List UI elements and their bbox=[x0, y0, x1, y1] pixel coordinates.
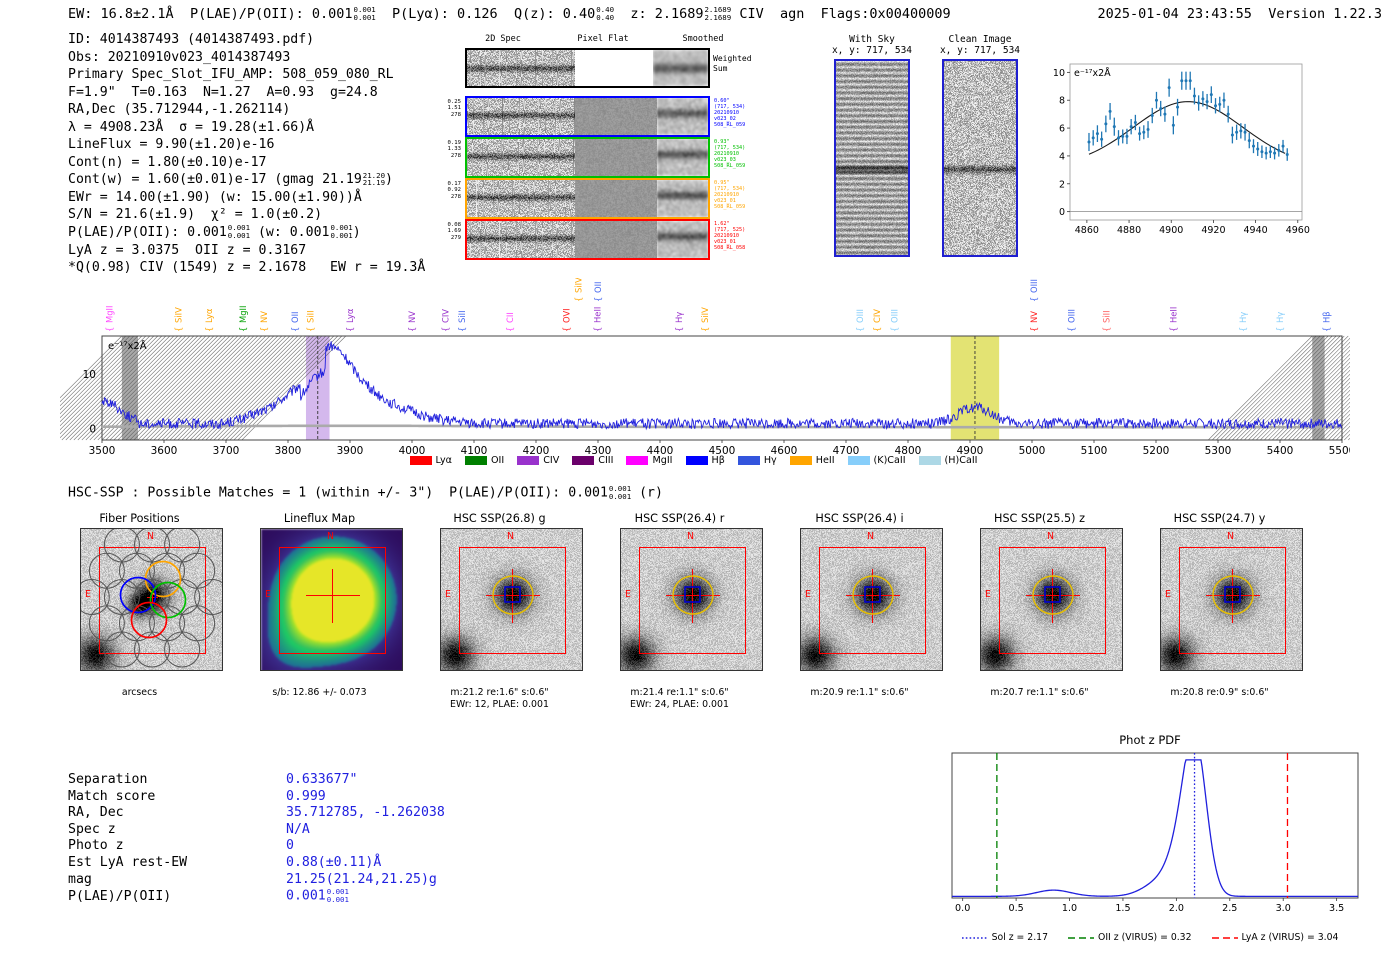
spectrum-legend-item-Lyα: Lyα bbox=[410, 455, 452, 466]
legend-label: Hβ bbox=[712, 455, 725, 466]
cutout-image-2[interactable]: NE-4-4-2-2002244 bbox=[440, 528, 583, 671]
sky-cutout-title-1: Clean Imagex, y: 717, 534 bbox=[930, 34, 1030, 56]
header-flags: Flags:0x00400009 bbox=[821, 6, 951, 22]
source-ellipse-overlay bbox=[801, 529, 943, 671]
source-ellipse-overlay bbox=[621, 529, 763, 671]
north-label: N bbox=[1227, 531, 1234, 542]
svg-text:0: 0 bbox=[89, 424, 96, 436]
legend-label: (H)CaII bbox=[945, 455, 978, 466]
sky-cutout-image-0 bbox=[834, 59, 910, 257]
info-line-2: Primary Spec_Slot_IFU_AMP: 508_059_080_R… bbox=[68, 66, 425, 84]
cutout-caption-4: m:20.9 re:1.1" s:0.6" bbox=[772, 687, 947, 699]
info-line-4: RA,Dec (35.712944,-1.262114) bbox=[68, 101, 425, 119]
north-label: N bbox=[1047, 531, 1054, 542]
two-d-spectrum-panel: 2D SpecPixel FlatSmoothedWeighted Sum0.2… bbox=[455, 34, 765, 266]
svg-text:{: { bbox=[1238, 327, 1248, 332]
sky-cutout-clean: Clean Imagex, y: 717, 534 bbox=[930, 34, 1030, 257]
svg-text:{: { bbox=[573, 297, 583, 302]
hsc-headline-text: HSC-SSP : Possible Matches = 1 (within +… bbox=[68, 486, 608, 501]
property-value: 0.88(±0.11)Å bbox=[286, 855, 381, 870]
cutout-title-2: HSC SSP(26.8) g bbox=[412, 512, 587, 525]
weighted-sum-label: Weighted Sum bbox=[713, 54, 752, 73]
svg-text:NV: NV bbox=[259, 311, 269, 323]
legend-swatch-icon bbox=[738, 456, 760, 465]
svg-text:CIV: CIV bbox=[872, 309, 882, 323]
source-ellipse-overlay bbox=[441, 529, 583, 671]
cutout-caption-2: m:21.2 re:1.6" s:0.6"EWr: 12, PLAE: 0.00… bbox=[412, 687, 587, 711]
cutout-image-0[interactable]: NE-4-4-2-2002244 bbox=[80, 528, 223, 671]
sky-cutout-title-0: With Skyx, y: 717, 534 bbox=[822, 34, 922, 56]
cutout-caption-0: arcsecs bbox=[52, 687, 227, 699]
hsc-headline-frac: 0.0010.001 bbox=[609, 485, 631, 500]
spec2d-row-right-labels-1: 0.93"(717, 534)20210910v023_03508_RL_059 bbox=[714, 139, 745, 169]
svg-text:Hγ: Hγ bbox=[1238, 312, 1248, 323]
header-plya: P(Lyα): 0.126 bbox=[392, 6, 498, 22]
property-row-0: Separation0.633677" bbox=[68, 772, 445, 789]
svg-text:4920: 4920 bbox=[1201, 225, 1225, 236]
phot-z-legend-swatch-icon bbox=[962, 934, 988, 942]
property-value: 21.25(21.24,21.25)g bbox=[286, 872, 437, 887]
east-label: E bbox=[445, 589, 451, 600]
svg-text:Hγ: Hγ bbox=[1275, 312, 1285, 323]
full-spectrum-chart: MgII{SiIV{Lyα{MgII{NV{OII{SiII{Lyα{NV{CI… bbox=[60, 278, 1350, 468]
cutout-panel-6: HSC SSP(24.7) yNE-4-4-2-2002244m:20.8 re… bbox=[1132, 512, 1307, 699]
east-label: E bbox=[805, 589, 811, 600]
svg-text:SiII: SiII bbox=[306, 310, 316, 323]
svg-text:e⁻¹⁷x2Å: e⁻¹⁷x2Å bbox=[1074, 67, 1111, 79]
svg-text:{: { bbox=[855, 327, 865, 332]
hsc-headline-suffix: (r) bbox=[631, 486, 663, 501]
header-qz-frac: 0.400.40 bbox=[596, 6, 614, 21]
cutout-image-1[interactable]: NE-4-4-2-2002244 bbox=[260, 528, 403, 671]
phot-z-pdf-chart: Phot z PDF0.00.51.01.52.02.53.03.5Sol z … bbox=[930, 733, 1370, 948]
svg-text:4860: 4860 bbox=[1075, 225, 1099, 236]
phot-z-legend-label: LyA z (VIRUS) = 3.04 bbox=[1242, 932, 1339, 943]
spec2d-exposure-row-3 bbox=[465, 219, 710, 260]
svg-text:{: { bbox=[345, 327, 355, 332]
phot-z-legend-item-2: LyA z (VIRUS) = 3.04 bbox=[1212, 932, 1339, 943]
svg-text:CII: CII bbox=[505, 312, 515, 323]
svg-text:NV: NV bbox=[1029, 311, 1039, 323]
svg-text:{: { bbox=[505, 327, 515, 332]
cutout-caption-6: m:20.8 re:0.9" s:0.6" bbox=[1132, 687, 1307, 699]
property-row-5: Est LyA rest-EW0.88(±0.11)Å bbox=[68, 855, 445, 872]
svg-text:SiII: SiII bbox=[457, 310, 467, 323]
header-ew: EW: 16.8±2.1Å bbox=[68, 6, 174, 22]
property-label: Match score bbox=[68, 789, 286, 806]
cutout-panel-5: HSC SSP(25.5) zNE-4-4-2-2002244m:20.7 re… bbox=[952, 512, 1127, 699]
svg-text:OIII: OIII bbox=[855, 309, 865, 323]
source-ellipse-overlay bbox=[1161, 529, 1303, 671]
phot-z-legend: Sol z = 2.17OII z (VIRUS) = 0.32LyA z (V… bbox=[930, 932, 1370, 943]
phot-z-legend-label: OII z (VIRUS) = 0.32 bbox=[1098, 932, 1192, 943]
property-value: 0.001 bbox=[286, 889, 326, 904]
svg-text:{: { bbox=[593, 297, 603, 302]
svg-text:2.5: 2.5 bbox=[1222, 903, 1237, 914]
svg-text:0: 0 bbox=[1059, 207, 1065, 218]
svg-text:{: { bbox=[700, 327, 710, 332]
svg-text:1.5: 1.5 bbox=[1115, 903, 1130, 914]
svg-text:OII: OII bbox=[290, 311, 300, 323]
property-label: RA, Dec bbox=[68, 805, 286, 822]
spectrum-legend-item-CIII: CIII bbox=[572, 455, 613, 466]
header-classification: agn bbox=[780, 6, 804, 22]
legend-label: HeII bbox=[816, 455, 835, 466]
svg-text:{: { bbox=[872, 327, 882, 332]
property-row-7: P(LAE)/P(OII)0.0010.0010.001 bbox=[68, 888, 445, 905]
svg-text:Lyα: Lyα bbox=[204, 308, 214, 323]
legend-swatch-icon bbox=[517, 456, 539, 465]
property-value: 0.999 bbox=[286, 789, 326, 804]
cutout-panel-4: HSC SSP(26.4) iNE-4-4-2-2002244m:20.9 re… bbox=[772, 512, 947, 699]
source-ellipse-overlay bbox=[981, 529, 1123, 671]
legend-label: OII bbox=[491, 455, 504, 466]
svg-text:10: 10 bbox=[1053, 68, 1065, 79]
info-line-5: λ = 4908.23Å σ = 19.28(±1.66)Å bbox=[68, 119, 425, 137]
cutout-panel-2: HSC SSP(26.8) gNE-4-4-2-2002244m:21.2 re… bbox=[412, 512, 587, 711]
legend-swatch-icon bbox=[626, 456, 648, 465]
property-row-3: Spec zN/A bbox=[68, 822, 445, 839]
header-version: Version 1.22.3 bbox=[1268, 6, 1382, 22]
spec2d-row-left-labels-3: 0.081.69279 bbox=[439, 222, 461, 241]
cutout-title-0: Fiber Positions bbox=[52, 512, 227, 525]
svg-text:{: { bbox=[407, 327, 417, 332]
cutout-caption-1: s/b: 12.86 +/- 0.073 bbox=[232, 687, 407, 699]
svg-text:MgII: MgII bbox=[238, 306, 248, 323]
cutout-panel-0: Fiber PositionsNE-4-4-2-2002244arcsecs bbox=[52, 512, 227, 699]
header-summary-line: EW: 16.8±2.1Å P(LAE)/P(OII): 0.0010.0010… bbox=[68, 6, 951, 22]
svg-text:{: { bbox=[1322, 327, 1332, 332]
legend-swatch-icon bbox=[410, 456, 432, 465]
svg-text:e⁻¹⁷x2Å: e⁻¹⁷x2Å bbox=[108, 339, 147, 352]
svg-text:HeII: HeII bbox=[593, 307, 603, 323]
svg-text:SiIV: SiIV bbox=[573, 278, 583, 293]
svg-text:1.0: 1.0 bbox=[1062, 903, 1077, 914]
svg-text:6: 6 bbox=[1059, 124, 1065, 135]
north-label: N bbox=[327, 531, 334, 542]
cutout-title-3: HSC SSP(26.4) r bbox=[592, 512, 767, 525]
phot-z-legend-item-1: OII z (VIRUS) = 0.32 bbox=[1068, 932, 1192, 943]
legend-label: Hγ bbox=[764, 455, 777, 466]
info-line-cont-w: Cont(w) = 1.60(±0.01)e-17 (gmag 21.1921.… bbox=[68, 171, 425, 189]
legend-label: CIV bbox=[543, 455, 559, 466]
crosshair-vertical bbox=[332, 569, 333, 623]
svg-text:{: { bbox=[457, 327, 467, 332]
svg-text:{: { bbox=[593, 327, 603, 332]
svg-text:4940: 4940 bbox=[1244, 225, 1268, 236]
cutout-title-5: HSC SSP(25.5) z bbox=[952, 512, 1127, 525]
svg-text:10: 10 bbox=[83, 369, 96, 381]
legend-swatch-icon bbox=[465, 456, 487, 465]
svg-text:NV: NV bbox=[407, 311, 417, 323]
cutout-image-5[interactable]: NE-4-4-2-2002244 bbox=[980, 528, 1123, 671]
svg-text:{: { bbox=[1275, 327, 1285, 332]
legend-swatch-icon bbox=[686, 456, 708, 465]
svg-text:SiIV: SiIV bbox=[700, 307, 710, 323]
svg-text:OVI: OVI bbox=[562, 308, 572, 323]
north-label: N bbox=[147, 531, 154, 542]
sky-cutout-image-1 bbox=[942, 59, 1018, 257]
header-timestamp: 2025-01-04 23:43:55 bbox=[1098, 6, 1252, 22]
property-value: 35.712785, -1.262038 bbox=[286, 805, 445, 820]
header-plae: P(LAE)/P(OII): 0.001 bbox=[190, 6, 353, 22]
svg-text:OIII: OIII bbox=[1066, 309, 1076, 323]
property-row-6: mag21.25(21.24,21.25)g bbox=[68, 872, 445, 889]
info-line-6: LineFlux = 9.90(±1.20)e-16 bbox=[68, 136, 425, 154]
property-row-1: Match score0.999 bbox=[68, 789, 445, 806]
header-timestamp-block: 2025-01-04 23:43:55 Version 1.22.3 bbox=[1098, 6, 1383, 22]
svg-text:{: { bbox=[259, 327, 269, 332]
svg-text:OIII: OIII bbox=[890, 309, 900, 323]
sky-cutout-sky: With Skyx, y: 717, 534 bbox=[822, 34, 922, 257]
svg-text:CIV: CIV bbox=[441, 309, 451, 323]
spectrum-legend-item-(H)CaII: (H)CaII bbox=[919, 455, 978, 466]
spec2d-row-right-labels-0: 0.60"(717, 534)20210910v023_02508_RL_059 bbox=[714, 98, 745, 128]
east-label: E bbox=[625, 589, 631, 600]
property-label: Photo z bbox=[68, 838, 286, 855]
svg-text:8: 8 bbox=[1059, 96, 1065, 107]
svg-text:0.0: 0.0 bbox=[955, 903, 970, 914]
legend-swatch-icon bbox=[848, 456, 870, 465]
match-properties-table: Separation0.633677"Match score0.999RA, D… bbox=[68, 772, 445, 905]
svg-text:{: { bbox=[562, 327, 572, 332]
svg-text:2.0: 2.0 bbox=[1169, 903, 1184, 914]
property-row-4: Photo z0 bbox=[68, 838, 445, 855]
property-label: Separation bbox=[68, 772, 286, 789]
east-label: E bbox=[85, 589, 91, 600]
east-label: E bbox=[985, 589, 991, 600]
spectrum-legend-item-CIV: CIV bbox=[517, 455, 559, 466]
spec2d-exposure-row-0 bbox=[465, 96, 710, 137]
spectrum-legend: LyαOIICIVCIIIMgIIHβHγHeII(K)CaII(H)CaII bbox=[0, 455, 1400, 466]
legend-label: (K)CaII bbox=[874, 455, 906, 466]
cutout-panel-1: Lineflux MapNE-4-4-2-2002244s/b: 12.86 +… bbox=[232, 512, 407, 699]
svg-text:{: { bbox=[290, 327, 300, 332]
svg-text:MgII: MgII bbox=[105, 306, 115, 323]
header-z-frac: 2.16892.1689 bbox=[704, 6, 731, 21]
svg-text:3.5: 3.5 bbox=[1329, 903, 1344, 914]
svg-text:0.5: 0.5 bbox=[1008, 903, 1023, 914]
property-label: Est LyA rest-EW bbox=[68, 855, 286, 872]
legend-label: Lyα bbox=[436, 455, 452, 466]
spectrum-legend-item-OII: OII bbox=[465, 455, 504, 466]
info-line-0: ID: 4014387493 (4014387493.pdf) bbox=[68, 31, 425, 49]
info-line-10: LyA z = 3.0375 OII z = 0.3167 bbox=[68, 242, 425, 260]
legend-swatch-icon bbox=[790, 456, 812, 465]
svg-text:{: { bbox=[105, 327, 115, 332]
property-value-frac: 0.0010.001 bbox=[327, 888, 349, 903]
svg-text:{: { bbox=[306, 327, 316, 332]
spec2d-col-title-0: 2D Spec bbox=[463, 34, 543, 44]
cutout-image-6[interactable]: NE-4-4-2-2002244 bbox=[1160, 528, 1303, 671]
weighted-sum-row bbox=[465, 48, 710, 88]
info-line-7: Cont(n) = 1.80(±0.10)e-17 bbox=[68, 154, 425, 172]
spec2d-row-left-labels-1: 0.191.33278 bbox=[439, 140, 461, 159]
legend-label: CIII bbox=[598, 455, 613, 466]
property-value: 0 bbox=[286, 838, 294, 853]
svg-text:3.0: 3.0 bbox=[1276, 903, 1291, 914]
property-label: P(LAE)/P(OII) bbox=[68, 889, 286, 906]
north-label: N bbox=[687, 531, 694, 542]
property-value: 0.633677" bbox=[286, 772, 357, 787]
info-line-plae: P(LAE)/P(OII): 0.0010.0010.001 (w: 0.001… bbox=[68, 224, 425, 242]
cutout-caption-3: m:21.4 re:1.1" s:0.6"EWr: 24, PLAE: 0.00… bbox=[592, 687, 767, 711]
cutout-panel-3: HSC SSP(26.4) rNE-4-4-2-2002244m:21.4 re… bbox=[592, 512, 767, 711]
svg-text:Hγ: Hγ bbox=[674, 312, 684, 323]
header-line-id: CIV bbox=[739, 6, 763, 22]
info-line-1: Obs: 20210910v023_4014387493 bbox=[68, 49, 425, 67]
svg-text:{: { bbox=[441, 327, 451, 332]
svg-text:{: { bbox=[674, 327, 684, 332]
spec2d-col-title-1: Pixel Flat bbox=[563, 34, 643, 44]
spectrum-legend-item-Hγ: Hγ bbox=[738, 455, 777, 466]
svg-text:OII: OII bbox=[593, 281, 603, 293]
phot-z-title: Phot z PDF bbox=[930, 733, 1370, 747]
property-value: N/A bbox=[286, 822, 310, 837]
svg-text:4960: 4960 bbox=[1286, 225, 1310, 236]
header-qz: Q(z): 0.40 bbox=[514, 6, 595, 22]
svg-text:{: { bbox=[204, 327, 214, 332]
cutout-title-6: HSC SSP(24.7) y bbox=[1132, 512, 1307, 525]
info-line-3: F=1.9" T=0.163 N=1.27 A=0.93 g=24.8 bbox=[68, 84, 425, 102]
cutout-image-4[interactable]: NE-4-4-2-2002244 bbox=[800, 528, 943, 671]
spec2d-row-left-labels-0: 0.251.51278 bbox=[439, 99, 461, 118]
svg-text:{: { bbox=[1102, 327, 1112, 332]
property-label: Spec z bbox=[68, 822, 286, 839]
svg-text:4880: 4880 bbox=[1117, 225, 1141, 236]
hsc-match-headline: HSC-SSP : Possible Matches = 1 (within +… bbox=[68, 485, 663, 501]
east-label: E bbox=[1165, 589, 1171, 600]
phot-z-legend-item-0: Sol z = 2.17 bbox=[962, 932, 1048, 943]
svg-text:4: 4 bbox=[1059, 151, 1065, 162]
spec2d-row-right-labels-2: 0.95"(717, 534)20210910v023_01508_RL_059 bbox=[714, 180, 745, 210]
info-line-8: EWr = 14.00(±1.90) (w: 15.00(±1.90))Å bbox=[68, 189, 425, 207]
spec2d-exposure-row-2 bbox=[465, 178, 710, 219]
svg-text:4900: 4900 bbox=[1159, 225, 1183, 236]
east-label: E bbox=[265, 589, 271, 600]
svg-text:{: { bbox=[1029, 327, 1039, 332]
emission-line-fit-chart: 0246810486048804900492049404960e⁻¹⁷x2Å bbox=[1030, 52, 1310, 250]
phot-z-legend-swatch-icon bbox=[1212, 934, 1238, 942]
spectrum-legend-item-Hβ: Hβ bbox=[686, 455, 725, 466]
spectrum-legend-item-HeII: HeII bbox=[790, 455, 835, 466]
sky-cutout-panel: With Skyx, y: 717, 534Clean Imagex, y: 7… bbox=[822, 34, 1022, 270]
svg-text:SiIV: SiIV bbox=[173, 307, 183, 323]
svg-text:{: { bbox=[173, 327, 183, 332]
svg-text:{: { bbox=[1169, 327, 1179, 332]
spectrum-legend-item-(K)CaII: (K)CaII bbox=[848, 455, 906, 466]
north-label: N bbox=[867, 531, 874, 542]
legend-label: MgII bbox=[652, 455, 672, 466]
cutout-title-4: HSC SSP(26.4) i bbox=[772, 512, 947, 525]
cutout-image-3[interactable]: NE-4-4-2-2002244 bbox=[620, 528, 763, 671]
info-line-9: S/N = 21.6(±1.9) χ² = 1.0(±0.2) bbox=[68, 206, 425, 224]
spec2d-row-right-labels-3: 1.62"(717, 525)20210910v023_01508_RL_058 bbox=[714, 221, 745, 251]
svg-text:{: { bbox=[890, 327, 900, 332]
svg-text:{: { bbox=[1066, 327, 1076, 332]
svg-text:SiII: SiII bbox=[1102, 310, 1112, 323]
spec2d-col-title-2: Smoothed bbox=[663, 34, 743, 44]
legend-swatch-icon bbox=[572, 456, 594, 465]
spectrum-legend-item-MgII: MgII bbox=[626, 455, 672, 466]
property-label: mag bbox=[68, 872, 286, 889]
header-plae-frac: 0.0010.001 bbox=[354, 6, 376, 21]
svg-text:2: 2 bbox=[1059, 179, 1065, 190]
header-redshift: z: 2.1689 bbox=[630, 6, 703, 22]
fiber-overlay bbox=[81, 529, 223, 671]
phot-z-legend-swatch-icon bbox=[1068, 934, 1094, 942]
phot-z-legend-label: Sol z = 2.17 bbox=[992, 932, 1048, 943]
legend-swatch-icon bbox=[919, 456, 941, 465]
svg-text:HeII: HeII bbox=[1169, 307, 1179, 323]
property-row-2: RA, Dec35.712785, -1.262038 bbox=[68, 805, 445, 822]
north-label: N bbox=[507, 531, 514, 542]
svg-text:{: { bbox=[238, 327, 248, 332]
cutout-caption-5: m:20.7 re:1.1" s:0.6" bbox=[952, 687, 1127, 699]
cutout-title-1: Lineflux Map bbox=[232, 512, 407, 525]
svg-text:{: { bbox=[1029, 297, 1039, 302]
spec2d-row-left-labels-2: 0.170.92278 bbox=[439, 181, 461, 200]
object-info-block: ID: 4014387493 (4014387493.pdf)Obs: 2021… bbox=[68, 31, 425, 277]
info-line-11: *Q(0.98) CIV (1549) z = 2.1678 EW r = 19… bbox=[68, 259, 425, 277]
svg-text:Hβ: Hβ bbox=[1322, 311, 1332, 323]
svg-text:Lyα: Lyα bbox=[345, 308, 355, 323]
spec2d-exposure-row-1 bbox=[465, 137, 710, 178]
svg-text:OIII: OIII bbox=[1029, 279, 1039, 293]
